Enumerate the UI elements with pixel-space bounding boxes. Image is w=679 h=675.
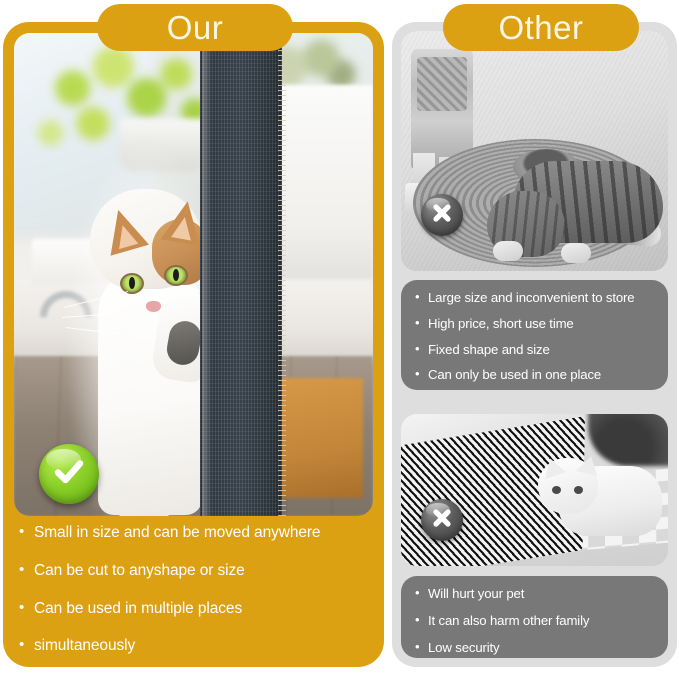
x-icon bbox=[430, 506, 454, 535]
other-header-label: Other bbox=[498, 9, 583, 47]
our-benefits-list: Small in size and can be moved anywhere … bbox=[19, 524, 369, 675]
other-column: Large size and inconvenient to store Hig… bbox=[392, 22, 677, 667]
other-product-photo-bottom bbox=[401, 414, 668, 566]
check-badge bbox=[39, 444, 99, 504]
list-item: Can only be used in one place bbox=[415, 368, 660, 383]
cat-paw bbox=[561, 243, 591, 263]
comparison-board: Small in size and can be moved anywhere … bbox=[0, 0, 679, 674]
cat-head bbox=[538, 458, 598, 514]
our-header-pill: Our bbox=[97, 4, 293, 51]
list-item: Fixed shape and size bbox=[415, 343, 660, 358]
cat-eye-left bbox=[552, 486, 561, 494]
scratcher-strip-highlight bbox=[202, 33, 212, 516]
other-drawbacks-card-top: Large size and inconvenient to store Hig… bbox=[401, 280, 668, 390]
cat-eye-left bbox=[120, 273, 144, 294]
other-product-photo-top bbox=[401, 31, 668, 271]
our-header-label: Our bbox=[167, 9, 224, 47]
list-item: simultaneously bbox=[19, 637, 369, 655]
list-item: Will hurt your pet bbox=[415, 587, 660, 602]
list-item: Small in size and can be moved anywhere bbox=[19, 524, 369, 542]
other-drawbacks-list-bottom: Will hurt your pet It can also harm othe… bbox=[415, 587, 660, 667]
other-drawbacks-card-bottom: Will hurt your pet It can also harm othe… bbox=[401, 576, 668, 658]
x-badge-bottom bbox=[421, 499, 463, 541]
cat-nose bbox=[146, 301, 161, 312]
list-item: Large size and inconvenient to store bbox=[415, 291, 660, 306]
x-badge-top bbox=[421, 194, 463, 236]
scratcher-strip bbox=[200, 33, 282, 516]
check-icon bbox=[52, 455, 86, 494]
list-item: Low security bbox=[415, 641, 660, 656]
list-item: It can also harm other family bbox=[415, 614, 660, 629]
x-icon bbox=[430, 201, 454, 230]
cat-paw bbox=[493, 241, 523, 261]
our-product-photo bbox=[14, 33, 373, 516]
list-item: High price, short use time bbox=[415, 317, 660, 332]
white-cat bbox=[534, 450, 662, 542]
tabby-cat bbox=[487, 151, 663, 261]
list-item: Can be cut to anyshape or size bbox=[19, 562, 369, 580]
cat-ear-left bbox=[540, 455, 566, 479]
cat-head bbox=[90, 189, 202, 289]
other-drawbacks-list-top: Large size and inconvenient to store Hig… bbox=[415, 291, 660, 383]
other-header-pill: Other bbox=[443, 4, 639, 51]
list-item: Can be used in multiple places bbox=[19, 600, 369, 618]
cat-eye-right bbox=[574, 486, 583, 494]
cat-ear-right bbox=[576, 454, 602, 477]
cat-eye-right bbox=[164, 265, 188, 286]
our-column: Small in size and can be moved anywhere … bbox=[3, 22, 384, 667]
cat-ear-left bbox=[99, 204, 149, 255]
